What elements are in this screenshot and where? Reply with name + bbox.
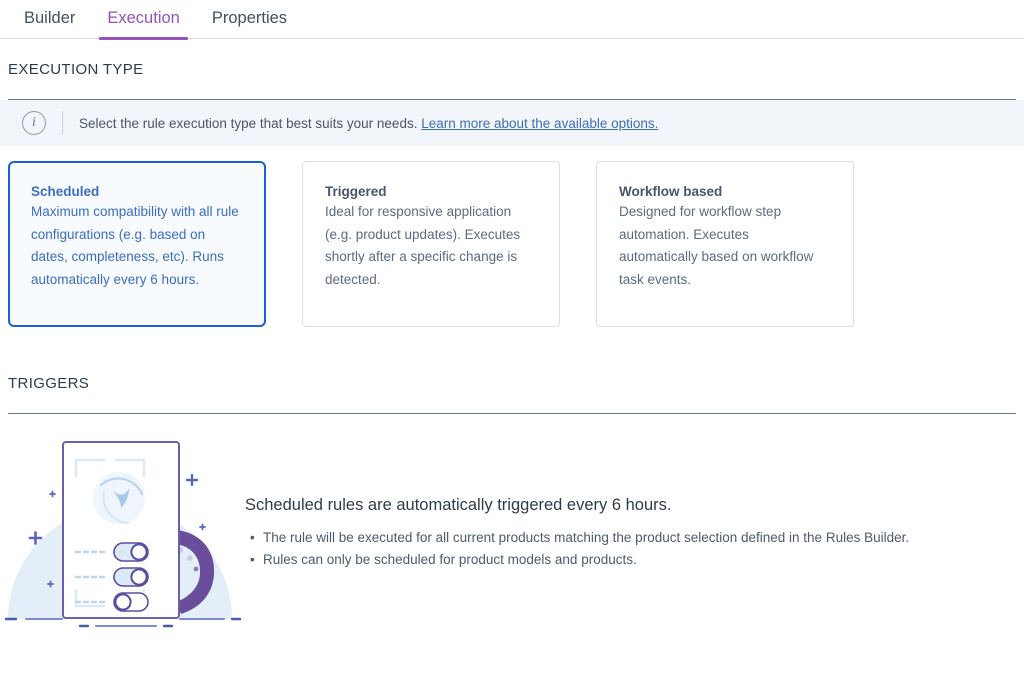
execution-type-card-workflow-based[interactable]: Workflow based Designed for workflow ste… (596, 161, 854, 327)
triggers-headline: Scheduled rules are automatically trigge… (245, 496, 909, 515)
tentacle-sucker (194, 567, 199, 572)
tab-builder[interactable]: Builder (8, 0, 91, 40)
card-title: Scheduled (31, 184, 243, 199)
info-icon: i (22, 111, 46, 135)
execution-type-section: EXECUTION TYPE i Select the rule executi… (0, 39, 1024, 327)
card-title: Triggered (325, 184, 537, 199)
card-title: Workflow based (619, 184, 831, 199)
triggers-section: TRIGGERS (0, 327, 1024, 629)
execution-type-card-list: Scheduled Maximum compatibility with all… (0, 146, 1024, 327)
tab-bar: Builder Execution Properties (0, 0, 1024, 39)
execution-type-card-triggered[interactable]: Triggered Ideal for responsive applicati… (302, 161, 560, 327)
banner-message: Select the rule execution type that best… (79, 116, 417, 131)
execution-type-heading: EXECUTION TYPE (0, 61, 1024, 78)
triggers-content: Scheduled rules are automatically trigge… (0, 414, 1024, 629)
list-item: The rule will be executed for all curren… (263, 527, 909, 549)
triggers-text-block: Scheduled rules are automatically trigge… (245, 434, 909, 571)
list-item: Rules can only be scheduled for product … (263, 549, 909, 571)
banner-divider (62, 111, 63, 135)
card-description: Designed for workflow step automation. E… (619, 201, 831, 291)
execution-type-card-scheduled[interactable]: Scheduled Maximum compatibility with all… (8, 161, 266, 327)
triggers-bullet-list: The rule will be executed for all curren… (245, 527, 909, 571)
tentacle-sucker (187, 555, 193, 561)
learn-more-link[interactable]: Learn more about the available options. (421, 116, 658, 131)
execution-type-info-banner: i Select the rule execution type that be… (0, 100, 1024, 146)
tab-execution[interactable]: Execution (91, 0, 195, 40)
card-frame (63, 442, 179, 618)
triggers-heading: TRIGGERS (0, 375, 1024, 392)
scheduled-rule-illustration (0, 434, 245, 629)
card-description: Ideal for responsive application (e.g. p… (325, 201, 537, 291)
card-description: Maximum compatibility with all rule conf… (31, 201, 243, 291)
banner-text: Select the rule execution type that best… (79, 116, 658, 131)
illustration-svg (0, 434, 245, 629)
tab-properties[interactable]: Properties (196, 0, 303, 40)
